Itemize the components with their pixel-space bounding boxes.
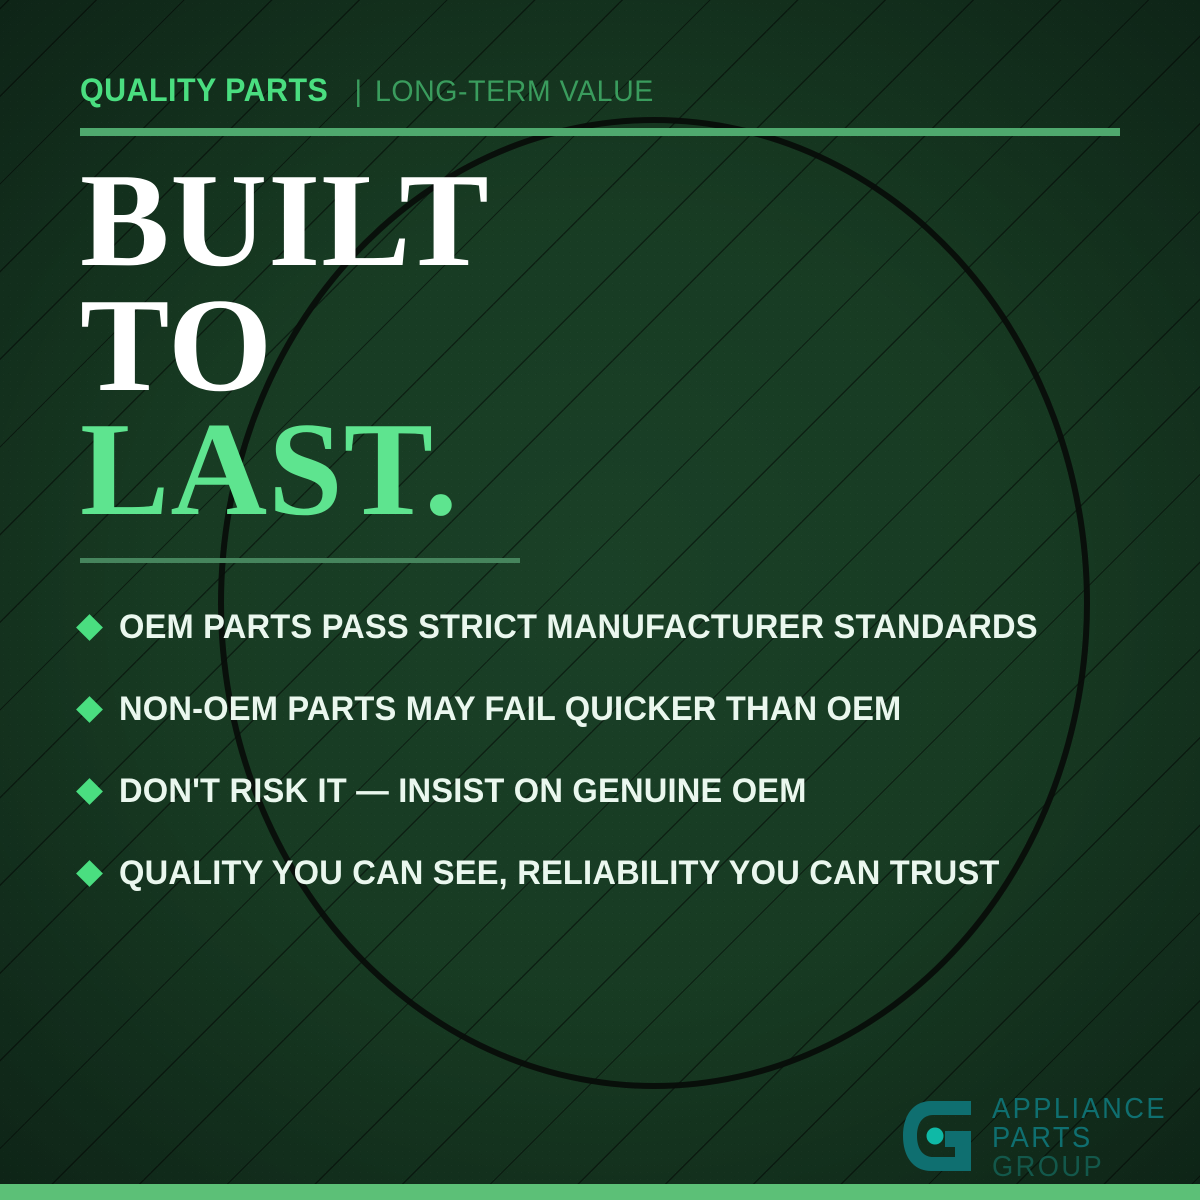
list-item: NON-OEM PARTS MAY FAIL QUICKER THAN OEM xyxy=(80,668,1140,750)
diamond-bullet-icon xyxy=(76,696,103,723)
brand-logo-line-1: APPLIANCE xyxy=(992,1095,1167,1124)
diamond-bullet-icon xyxy=(76,778,103,805)
diamond-bullet-icon xyxy=(76,860,103,887)
appliance-parts-group-g-mark xyxy=(897,1095,979,1182)
list-item: DON'T RISK IT — INSIST ON GENUINE OEM xyxy=(80,750,1140,832)
eyebrow-separator: | xyxy=(354,75,362,109)
list-item-label: QUALITY YOU CAN SEE, RELIABILITY YOU CAN… xyxy=(119,854,1000,893)
list-item-label: OEM PARTS PASS STRICT MANUFACTURER STAND… xyxy=(119,608,1038,647)
list-item: OEM PARTS PASS STRICT MANUFACTURER STAND… xyxy=(80,586,1140,668)
list-item: QUALITY YOU CAN SEE, RELIABILITY YOU CAN… xyxy=(80,832,1140,914)
brand-logo: APPLIANCE PARTS GROUP xyxy=(897,1095,1178,1182)
headline-line-3: LAST. xyxy=(80,407,490,532)
brand-logo-wordmark: APPLIANCE PARTS GROUP xyxy=(992,1095,1178,1181)
bottom-accent-bar xyxy=(0,1184,1200,1200)
eyebrow: QUALITY PARTS | LONG-TERM VALUE xyxy=(80,72,669,109)
bullet-list: OEM PARTS PASS STRICT MANUFACTURER STAND… xyxy=(80,586,1140,914)
headline-line-1: BUILT xyxy=(80,158,490,283)
diamond-bullet-icon xyxy=(76,614,103,641)
list-item-label: NON-OEM PARTS MAY FAIL QUICKER THAN OEM xyxy=(119,690,901,729)
eyebrow-strong-text: QUALITY PARTS xyxy=(80,72,328,109)
headline: BUILT TO LAST. xyxy=(80,158,490,532)
headline-underline-rule xyxy=(80,558,520,563)
brand-logo-line-3: GROUP xyxy=(992,1153,1167,1182)
brand-logo-line-2: PARTS xyxy=(992,1124,1167,1153)
eyebrow-light-text: LONG-TERM VALUE xyxy=(375,75,654,109)
list-item-label: DON'T RISK IT — INSIST ON GENUINE OEM xyxy=(119,772,807,811)
poster-canvas: QUALITY PARTS | LONG-TERM VALUE BUILT TO… xyxy=(0,0,1200,1200)
headline-line-2: TO xyxy=(80,283,490,408)
top-divider-rule xyxy=(80,128,1120,136)
